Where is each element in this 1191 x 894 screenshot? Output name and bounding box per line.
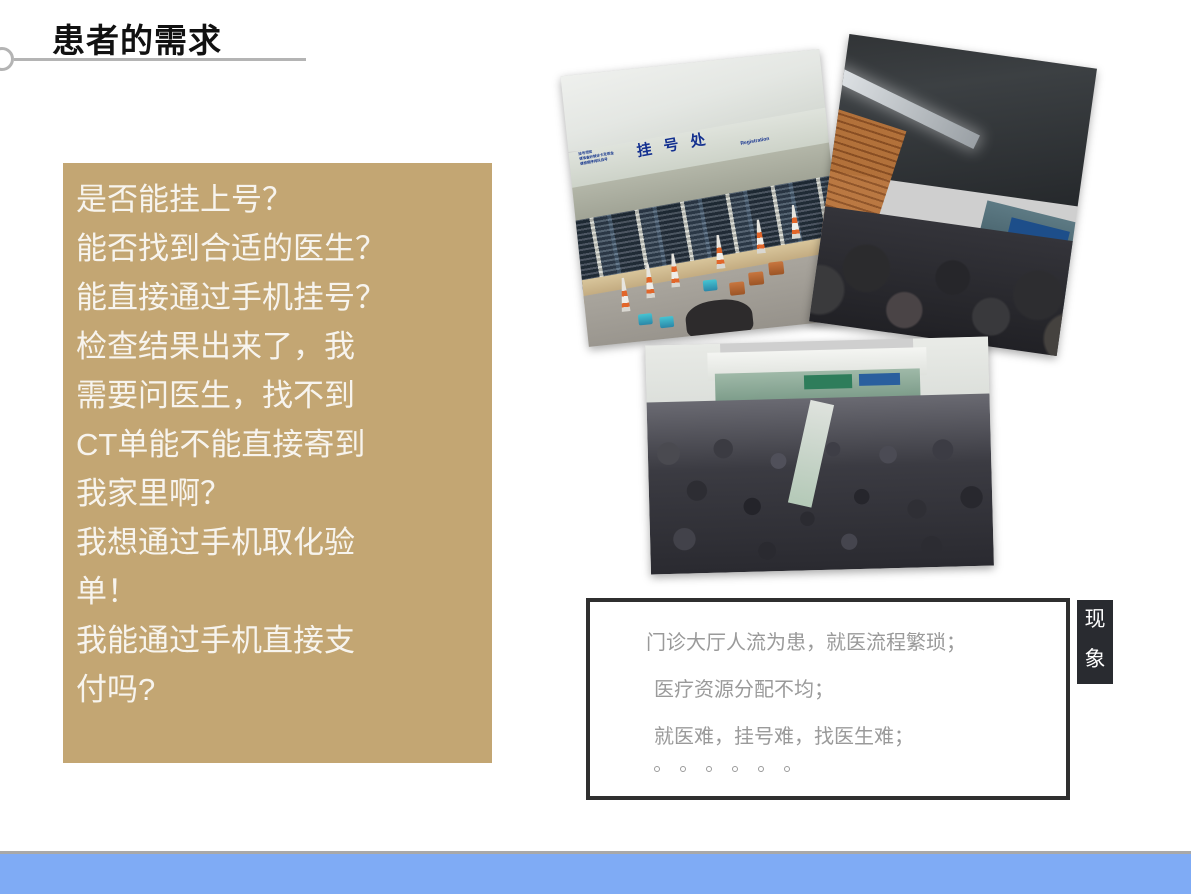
quote-line: 付吗? xyxy=(76,665,486,714)
slide-canvas: 患者的需求 是否能挂上号？ 能否找到合适的医生？ 能直接通过手机挂号？ 检查结果… xyxy=(0,0,1191,894)
caption-line: 医疗资源分配不均； xyxy=(646,667,966,714)
quote-line: 是否能挂上号？ xyxy=(76,175,486,224)
caption-line: 就医难，挂号难，找医生难； xyxy=(646,714,966,761)
ellipsis-dot xyxy=(758,766,764,772)
ellipsis-dot xyxy=(680,766,686,772)
caption-ellipsis-dots xyxy=(654,766,790,772)
photo-hospital-courtyard-crowd xyxy=(645,337,994,575)
caption-line: 门诊大厅人流为患，就医流程繁琐； xyxy=(646,620,966,667)
ellipsis-dot xyxy=(732,766,738,772)
footer-bar xyxy=(0,854,1191,894)
quote-line: CT单能不能直接寄到 xyxy=(76,420,486,469)
blue-bin-object xyxy=(659,316,674,328)
blue-bin-object xyxy=(702,279,717,291)
stool-object xyxy=(768,261,784,275)
photo-content: 挂号须知请准备好就诊卡及现金请按顺序排队挂号 挂 号 处 Registratio… xyxy=(560,49,847,347)
stool-object xyxy=(729,281,745,295)
photo-content xyxy=(809,34,1097,356)
patient-questions-text: 是否能挂上号？ 能否找到合适的医生？ 能直接通过手机挂号？ 检查结果出来了，我 … xyxy=(76,175,486,714)
quote-line: 我能通过手机直接支 xyxy=(76,616,486,665)
title-bullet-circle-icon xyxy=(0,47,14,71)
photo-hospital-registration-desk: 挂号须知请准备好就诊卡及现金请按顺序排队挂号 挂 号 处 Registratio… xyxy=(560,49,847,347)
photo-content xyxy=(645,337,994,575)
quote-line: 需要问医生，找不到 xyxy=(76,371,486,420)
ellipsis-dot xyxy=(654,766,660,772)
phenomenon-side-tab: 现 象 xyxy=(1077,600,1113,684)
page-title: 患者的需求 xyxy=(52,14,222,62)
quote-line: 能直接通过手机挂号？ xyxy=(76,273,486,322)
photo-facade-sign-blue xyxy=(859,373,900,386)
quote-line: 我想通过手机取化验 xyxy=(76,518,486,567)
photo-crowded-hospital-corridor xyxy=(809,34,1097,356)
quote-line: 我家里啊？ xyxy=(76,469,486,518)
quote-line: 能否找到合适的医生？ xyxy=(76,224,486,273)
side-tab-char: 象 xyxy=(1077,640,1113,680)
quote-line: 单！ xyxy=(76,567,486,616)
side-tab-char: 现 xyxy=(1077,600,1113,640)
patient-questions-panel: 是否能挂上号？ 能否找到合适的医生？ 能直接通过手机挂号？ 检查结果出来了，我 … xyxy=(63,163,492,763)
blue-bin-object xyxy=(638,313,653,325)
ellipsis-dot xyxy=(706,766,712,772)
phenomenon-caption-text: 门诊大厅人流为患，就医流程繁琐； 医疗资源分配不均； 就医难，挂号难，找医生难； xyxy=(646,620,966,761)
quote-line: 检查结果出来了，我 xyxy=(76,322,486,371)
stool-object xyxy=(748,271,764,285)
photo-facade-sign-green xyxy=(804,374,852,389)
ellipsis-dot xyxy=(784,766,790,772)
phenomenon-caption-box: 门诊大厅人流为患，就医流程繁琐； 医疗资源分配不均； 就医难，挂号难，找医生难； xyxy=(586,598,1070,800)
